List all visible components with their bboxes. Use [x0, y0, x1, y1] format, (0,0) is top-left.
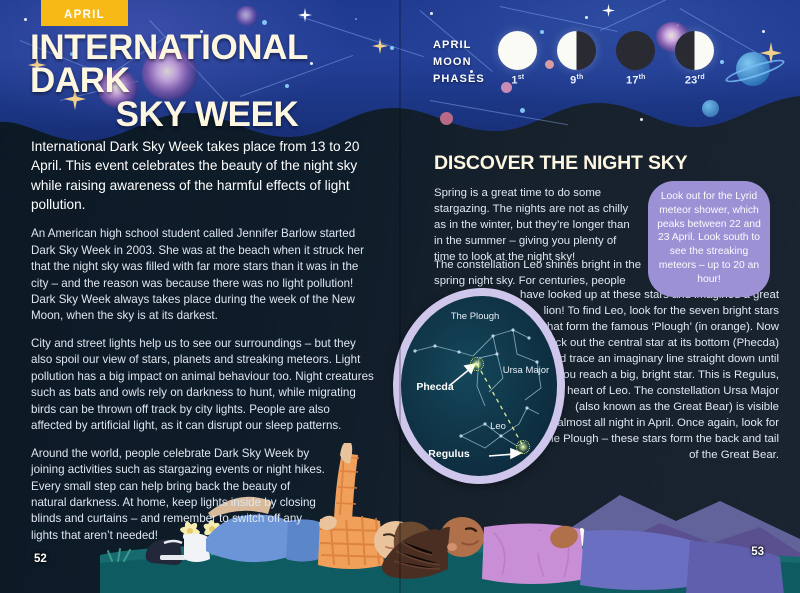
moon-first-quarter-icon [675, 31, 714, 70]
moon-full-icon [498, 31, 537, 70]
right-paragraph-2-start: The constellation Leo shines bright in t… [434, 258, 649, 290]
moon-date-number: 17 [626, 75, 639, 87]
moon-label-line-3: PHASES [433, 71, 485, 88]
star-chart: The Plough Ursa Major Leo Phecda Regulus [401, 296, 557, 476]
moon-new-icon [616, 31, 655, 70]
body-paragraph-1: An American high school student called J… [31, 226, 374, 325]
cheek [447, 543, 457, 551]
moon-phase-item: 9th [556, 31, 598, 87]
section-heading: DISCOVER THE NIGHT SKY [434, 152, 687, 175]
star-chart-frame: The Plough Ursa Major Leo Phecda Regulus [393, 288, 565, 484]
moon-phase-date: 1st [497, 74, 539, 87]
moon-phase-item: 1st [497, 31, 539, 87]
page-number-right: 53 [751, 546, 764, 558]
moon-label-line-2: MOON [433, 54, 485, 71]
ringed-planet-icon [736, 52, 770, 86]
moon-phase-date: 9th [556, 74, 598, 87]
page-number-left: 52 [34, 553, 47, 565]
moon-label-line-1: APRIL [433, 37, 485, 54]
trousers [580, 530, 702, 590]
phecda-star-marker [470, 357, 484, 371]
left-page-text-column: International Dark Sky Week takes place … [31, 137, 374, 555]
meteor-shower-callout: Look out for the Lyrid meteor shower, wh… [648, 181, 770, 297]
page-title-line-2: SKY WEEK [30, 98, 390, 131]
star-dot [520, 108, 525, 113]
star-dot [262, 20, 267, 25]
right-paragraph-1: Spring is a great time to do some starga… [434, 186, 639, 266]
moon-phase-date: 23rd [674, 74, 716, 87]
moon-phase-date: 17th [615, 74, 657, 87]
regulus-star-marker [516, 440, 530, 454]
moon-date-ordinal: rd [697, 74, 704, 81]
galaxy-icon [236, 6, 258, 26]
star-dot [762, 30, 765, 33]
star-dot [24, 18, 27, 21]
star-dot [390, 46, 394, 50]
page-title: INTERNATIONAL DARK SKY WEEK [30, 31, 390, 131]
intro-paragraph: International Dark Sky Week takes place … [31, 137, 374, 214]
moon-phases-label: APRIL MOON PHASES [433, 31, 485, 88]
star-dot [640, 118, 643, 121]
planet-icon [440, 112, 453, 125]
moon-phases-panel: APRIL MOON PHASES 1st 9th 17th 23rd [433, 31, 716, 88]
moon-date-ordinal: th [639, 74, 646, 81]
page-gutter [399, 0, 401, 593]
star-dot [720, 60, 724, 64]
moon-phase-item: 23rd [674, 31, 716, 87]
body-paragraph-2: City and street lights help us to see ou… [31, 336, 374, 435]
moon-phase-list: 1st 9th 17th 23rd [497, 31, 716, 87]
star-dot [585, 16, 588, 19]
moon-last-quarter-icon [557, 31, 596, 70]
page-title-line-1: INTERNATIONAL DARK [30, 31, 390, 98]
issue-month-label: APRIL [64, 9, 105, 21]
planet-icon [702, 100, 719, 117]
star-dot [355, 18, 357, 20]
star-chart-lines [401, 296, 557, 476]
star-dot [430, 12, 433, 15]
moon-date-ordinal: st [518, 74, 525, 81]
moon-phase-item: 17th [615, 31, 657, 87]
moon-date-ordinal: th [577, 74, 584, 81]
issue-month-badge: APRIL [41, 0, 128, 26]
magazine-spread: APRIL INTERNATIONAL DARK SKY WEEK APRIL … [0, 0, 800, 593]
moon-date-number: 23 [685, 75, 698, 87]
body-paragraph-3: Around the world, people celebrate Dark … [31, 446, 326, 545]
